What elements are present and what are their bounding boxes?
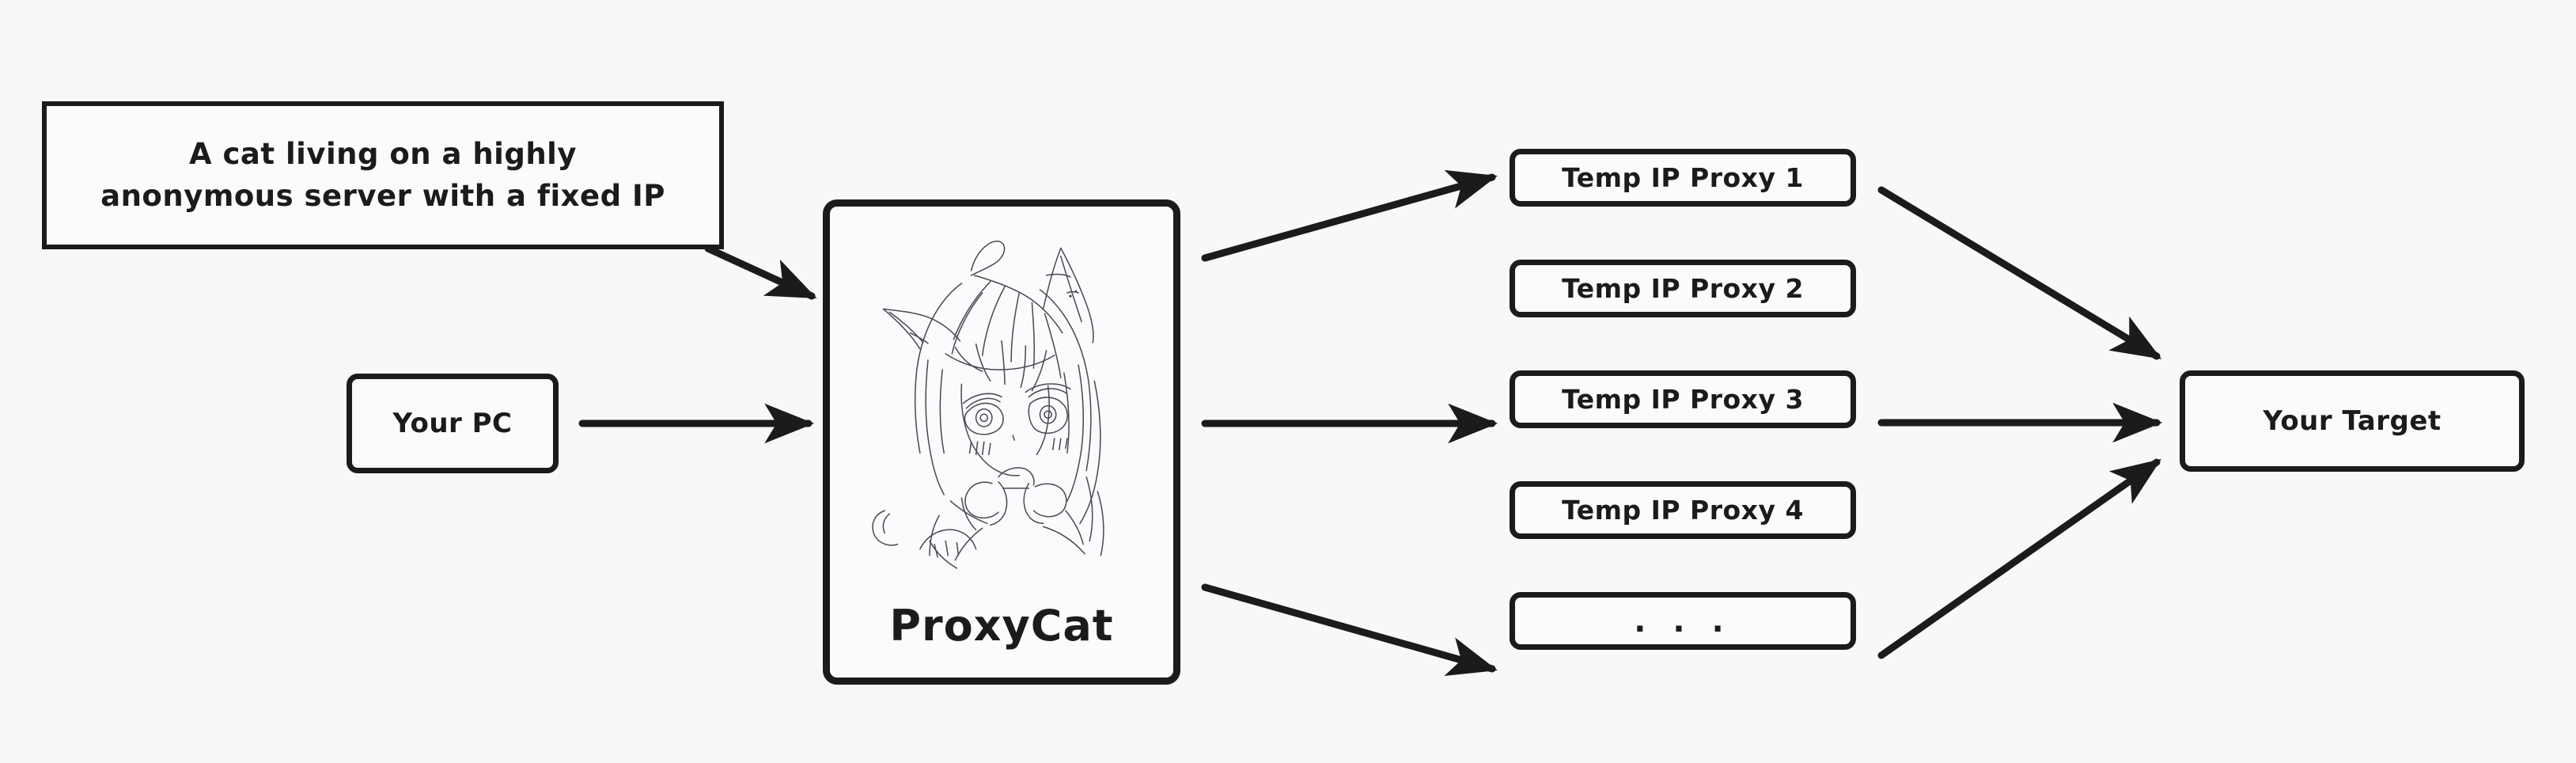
- edge-note-to-proxycat: [708, 249, 812, 296]
- node-proxycat-label: ProxyCat: [830, 573, 1173, 678]
- node-your-pc[interactable]: Your PC: [347, 374, 559, 473]
- description-line-2: anonymous server with a fixed IP: [100, 176, 665, 218]
- node-proxy-4[interactable]: Temp IP Proxy 4: [1510, 481, 1856, 539]
- node-proxycat[interactable]: ProxyCat: [823, 199, 1180, 685]
- node-proxy-more[interactable]: . . .: [1510, 592, 1856, 650]
- node-proxy-2[interactable]: Temp IP Proxy 2: [1510, 260, 1856, 317]
- node-proxy-3[interactable]: Temp IP Proxy 3: [1510, 370, 1856, 428]
- node-proxy-2-label: Temp IP Proxy 2: [1562, 273, 1804, 304]
- edge-proxy-more-to-target: [1881, 462, 2157, 655]
- description-callout: A cat living on a highly anonymous serve…: [42, 101, 724, 249]
- node-proxy-4-label: Temp IP Proxy 4: [1562, 495, 1804, 526]
- edge-proxycat-to-proxy-1: [1205, 177, 1492, 258]
- edge-proxy-1-to-target: [1881, 190, 2157, 356]
- node-proxy-3-label: Temp IP Proxy 3: [1562, 384, 1804, 415]
- node-your-target[interactable]: Your Target: [2180, 370, 2525, 472]
- edge-proxycat-to-proxy-more: [1205, 587, 1492, 669]
- node-your-pc-label: Your PC: [392, 408, 512, 439]
- node-proxy-more-label: . . .: [1634, 603, 1731, 640]
- diagram-canvas: A cat living on a highly anonymous serve…: [0, 0, 2576, 763]
- description-line-1: A cat living on a highly: [189, 134, 577, 176]
- cat-girl-illustration-icon: [830, 213, 1173, 573]
- node-proxy-1-label: Temp IP Proxy 1: [1562, 162, 1804, 193]
- node-proxy-1[interactable]: Temp IP Proxy 1: [1510, 149, 1856, 207]
- node-your-target-label: Your Target: [2263, 405, 2441, 437]
